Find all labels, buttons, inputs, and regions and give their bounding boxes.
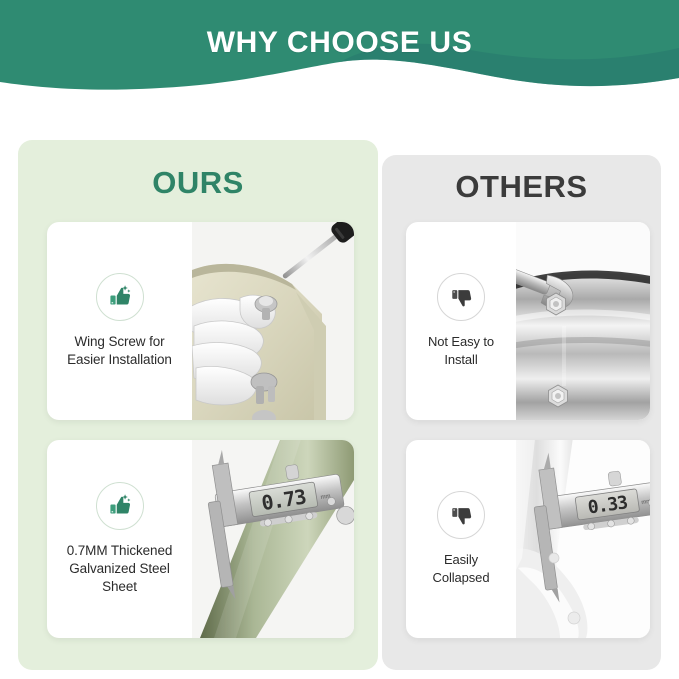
others-feature-card-1: Not Easy to Install	[406, 222, 650, 420]
thumbs-down-icon	[437, 273, 485, 321]
ours-card-2-text: 0.7MM Thickened Galvanized Steel Sheet	[53, 542, 186, 596]
thumbs-up-glyph	[107, 284, 133, 310]
ours-card-1-label-area: Wing Screw for Easier Installation	[47, 222, 192, 420]
ours-heading: OURS	[18, 165, 378, 201]
thumbs-up-glyph	[107, 493, 133, 519]
ours-card-2-label-area: 0.7MM Thickened Galvanized Steel Sheet	[47, 440, 192, 638]
digital-caliper-measuring-thin-white-sheet-image: 0.33 mm	[516, 440, 650, 638]
others-card-1-photo	[516, 222, 650, 420]
others-feature-card-2: Easily Collapsed	[406, 440, 650, 638]
ours-feature-card-1: Wing Screw for Easier Installation	[47, 222, 354, 420]
ours-card-1-text: Wing Screw for Easier Installation	[53, 333, 186, 369]
others-card-1-text: Not Easy to Install	[412, 333, 510, 369]
others-card-2-label-area: Easily Collapsed	[406, 440, 516, 638]
thumbs-up-icon	[96, 273, 144, 321]
gloved-hand-installing-wing-screw-with-screwdriver-image	[192, 222, 354, 420]
ours-card-2-photo: 0.73 mm	[192, 440, 354, 638]
others-card-1-label-area: Not Easy to Install	[406, 222, 516, 420]
wrench-tightening-hex-nut-on-chrome-panel-image	[516, 222, 650, 420]
thumbs-down-glyph	[449, 285, 474, 310]
ours-feature-card-2: 0.7MM Thickened Galvanized Steel Sheet	[47, 440, 354, 638]
thumbs-down-glyph	[449, 503, 474, 528]
others-card-2-text: Easily Collapsed	[412, 551, 510, 587]
others-heading: OTHERS	[382, 169, 661, 205]
digital-caliper-measuring-green-steel-sheet-image: 0.73 mm	[192, 440, 354, 638]
thumbs-down-icon	[437, 491, 485, 539]
others-card-2-photo: 0.33 mm	[516, 440, 650, 638]
ours-card-1-photo	[192, 222, 354, 420]
thumbs-up-icon	[96, 482, 144, 530]
